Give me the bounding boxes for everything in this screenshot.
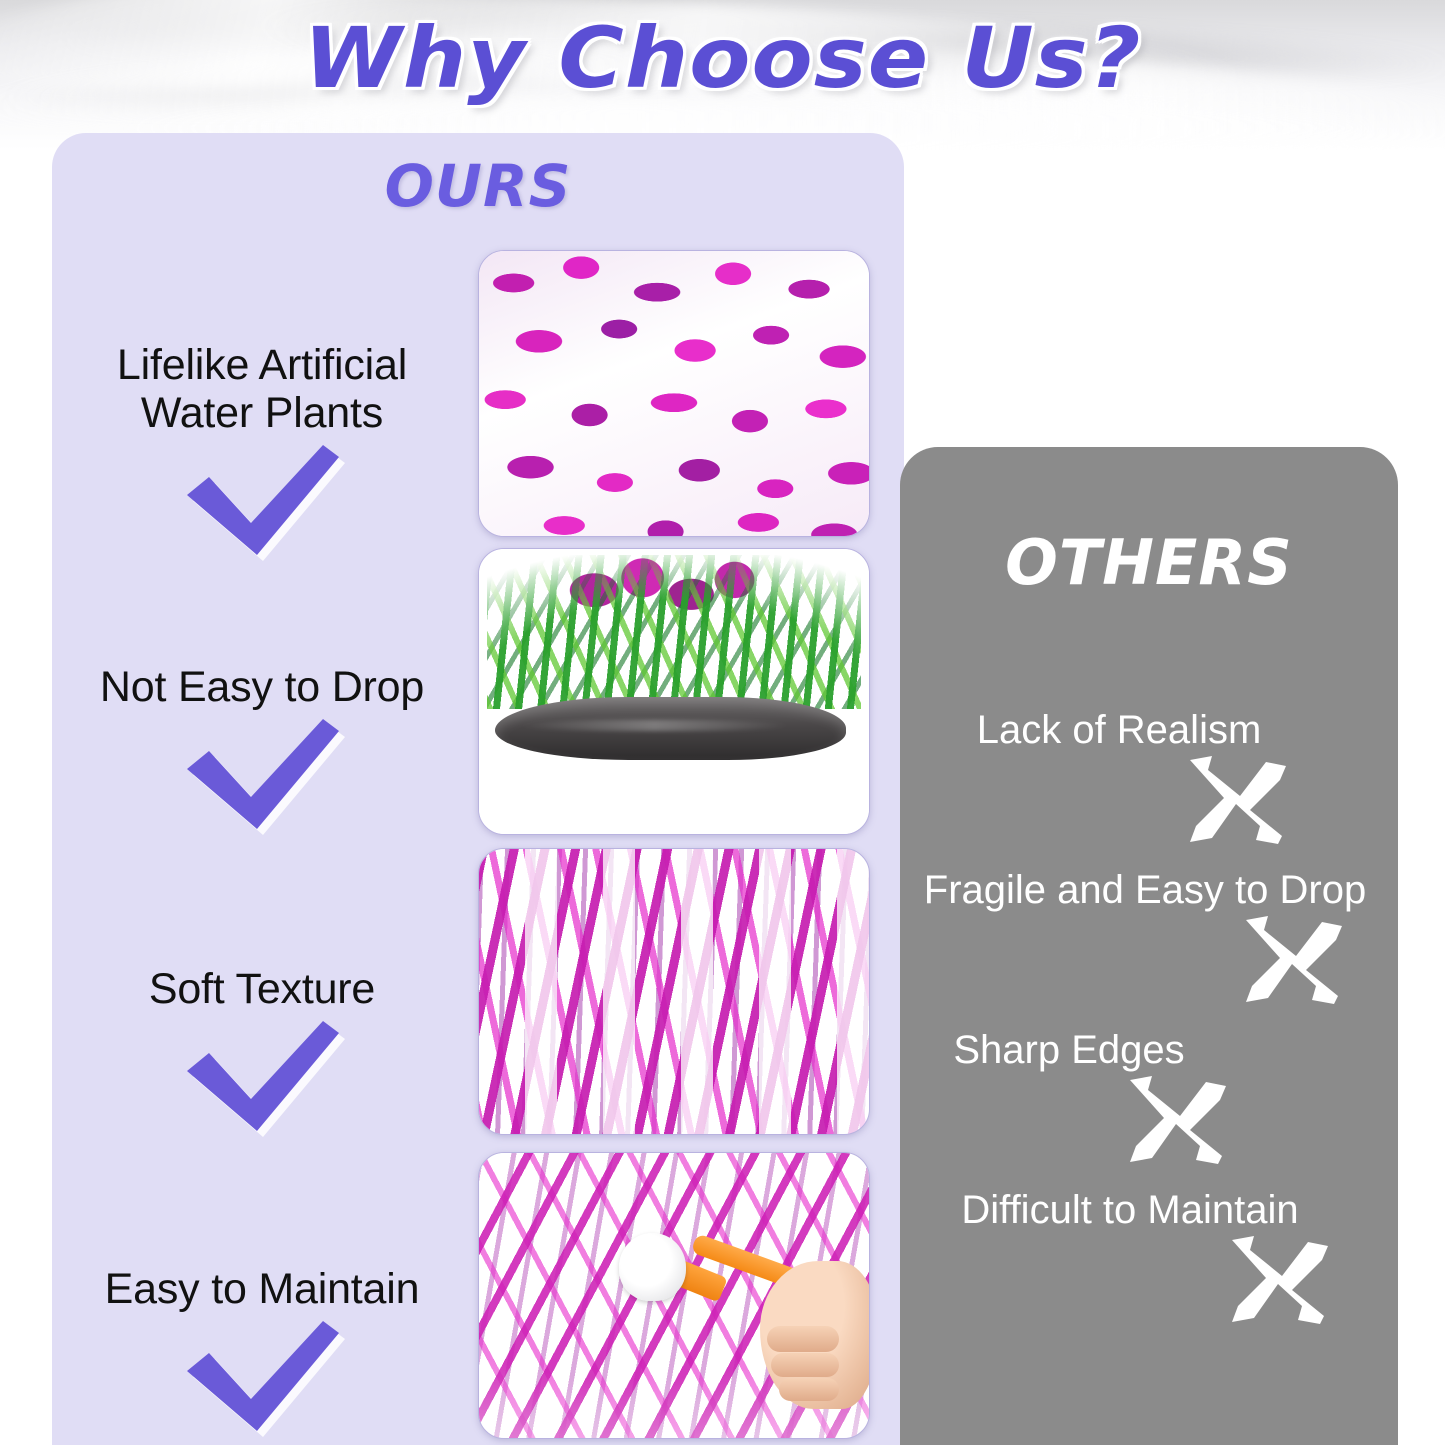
leaf-texture bbox=[479, 251, 869, 536]
finger-3 bbox=[779, 1378, 840, 1400]
others-row-lack-of-realism: Lack of Realism bbox=[900, 708, 1398, 838]
leaf-sprig-texture bbox=[479, 849, 869, 1134]
log-green-plants bbox=[487, 555, 861, 709]
feature-row-soft-texture: Soft Texture bbox=[62, 965, 462, 1139]
photo-content-4 bbox=[479, 1153, 869, 1438]
feature-row-easy-to-maintain: Easy to Maintain bbox=[62, 1265, 462, 1439]
others-heading: OTHERS bbox=[900, 526, 1398, 599]
cross-mark-icon bbox=[1182, 754, 1292, 846]
check-wrap-4 bbox=[62, 1319, 462, 1439]
product-photo-lifelike-plants bbox=[478, 250, 870, 537]
check-mark-icon bbox=[177, 443, 347, 561]
product-photo-soft-texture bbox=[478, 848, 870, 1135]
photo-content-1 bbox=[479, 251, 869, 536]
feature-row-lifelike: Lifelike Artificial Water Plants bbox=[62, 341, 462, 563]
check-wrap-2 bbox=[62, 717, 462, 837]
check-mark-icon bbox=[177, 1319, 347, 1437]
others-label: Sharp Edges bbox=[900, 1028, 1398, 1072]
cross-wrap-2 bbox=[900, 912, 1398, 998]
cross-mark-icon bbox=[1238, 914, 1348, 1006]
cross-wrap-4 bbox=[900, 1232, 1398, 1318]
product-photo-log-base bbox=[478, 548, 870, 835]
hand bbox=[760, 1261, 869, 1409]
product-photo-cleaning bbox=[478, 1152, 870, 1439]
infographic-canvas: Why Choose Us? OURS Lifelike Artificial … bbox=[0, 0, 1445, 1445]
page-title: Why Choose Us? bbox=[0, 9, 1445, 107]
feature-label-line1: Not Easy to Drop bbox=[62, 663, 462, 711]
check-mark-icon bbox=[177, 1019, 347, 1137]
cross-mark-icon bbox=[1122, 1074, 1232, 1166]
others-label: Fragile and Easy to Drop bbox=[900, 868, 1398, 912]
feature-row-not-easy-to-drop: Not Easy to Drop bbox=[62, 663, 462, 837]
brush-bristles bbox=[619, 1233, 685, 1301]
feature-label-line2: Water Plants bbox=[62, 389, 462, 437]
others-row-difficult-to-maintain: Difficult to Maintain bbox=[900, 1188, 1398, 1318]
ours-heading: OURS bbox=[52, 152, 904, 220]
others-row-sharp-edges: Sharp Edges bbox=[900, 1028, 1398, 1158]
feature-label-line1: Soft Texture bbox=[62, 965, 462, 1013]
cross-wrap-1 bbox=[900, 752, 1398, 838]
photo-content-3 bbox=[479, 849, 869, 1134]
cross-wrap-3 bbox=[900, 1072, 1398, 1158]
others-row-fragile: Fragile and Easy to Drop bbox=[900, 868, 1398, 998]
others-label: Difficult to Maintain bbox=[900, 1188, 1398, 1232]
photo-content-2 bbox=[479, 549, 869, 834]
finger-2 bbox=[771, 1353, 839, 1377]
check-mark-icon bbox=[177, 717, 347, 835]
feature-label-line1: Easy to Maintain bbox=[62, 1265, 462, 1313]
cross-mark-icon bbox=[1224, 1234, 1334, 1326]
finger-1 bbox=[767, 1326, 840, 1351]
check-wrap-1 bbox=[62, 443, 462, 563]
feature-label-line1: Lifelike Artificial bbox=[62, 341, 462, 389]
others-label: Lack of Realism bbox=[900, 708, 1398, 752]
check-wrap-3 bbox=[62, 1019, 462, 1139]
